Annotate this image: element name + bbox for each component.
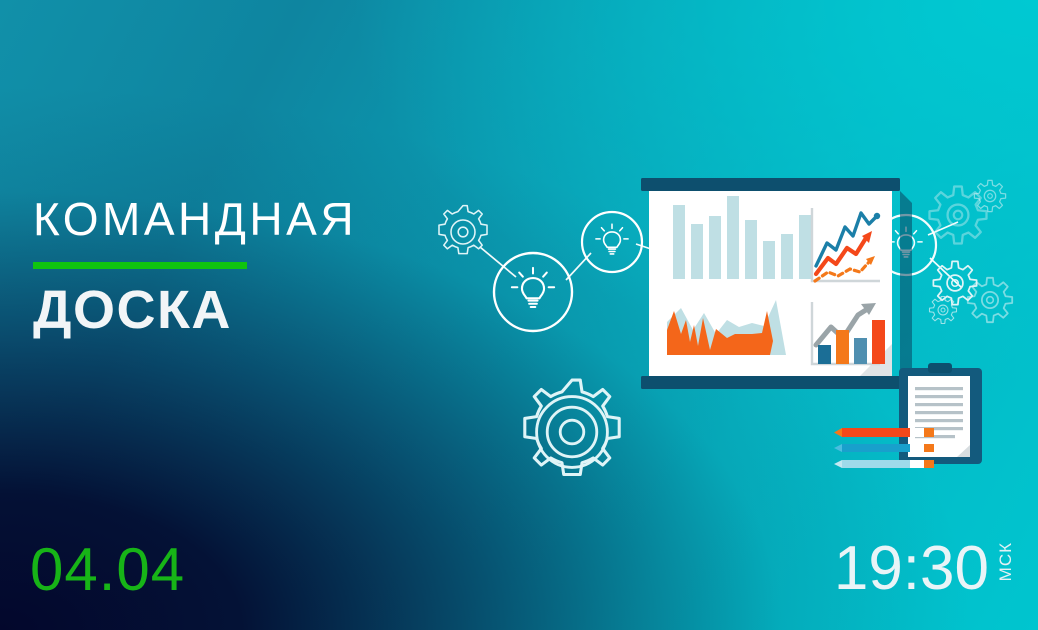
title-block: КОМАНДНАЯ ДОСКА — [33, 196, 357, 337]
lightbulb-circle-right-icon — [582, 212, 642, 272]
presentation-screen — [641, 178, 912, 389]
pencil-orange-icon — [834, 428, 934, 437]
gear-cluster-right-icon — [930, 180, 1013, 323]
pencil-blue-icon — [834, 444, 934, 452]
title-accent-rule — [33, 262, 247, 269]
promo-banner: КОМАНДНАЯ ДОСКА 04.04 19:30 МСК — [0, 0, 1038, 630]
event-timezone: МСК — [996, 542, 1016, 581]
pencil-light-blue-icon — [834, 460, 934, 468]
screen-bottom-bar — [641, 376, 900, 389]
screen-top-bar — [641, 178, 900, 191]
title-line-2: ДОСКА — [33, 283, 357, 337]
title-line-1: КОМАНДНАЯ — [33, 196, 357, 242]
gear-outline-small-icon — [439, 206, 487, 254]
lightbulb-circle-left-icon — [494, 253, 572, 331]
event-time-block: 19:30 МСК — [834, 538, 1016, 600]
event-date: 04.04 — [30, 540, 185, 600]
gear-outline-large-icon — [525, 380, 619, 474]
screen-side-shadow — [900, 191, 912, 389]
event-time: 19:30 — [834, 538, 989, 600]
